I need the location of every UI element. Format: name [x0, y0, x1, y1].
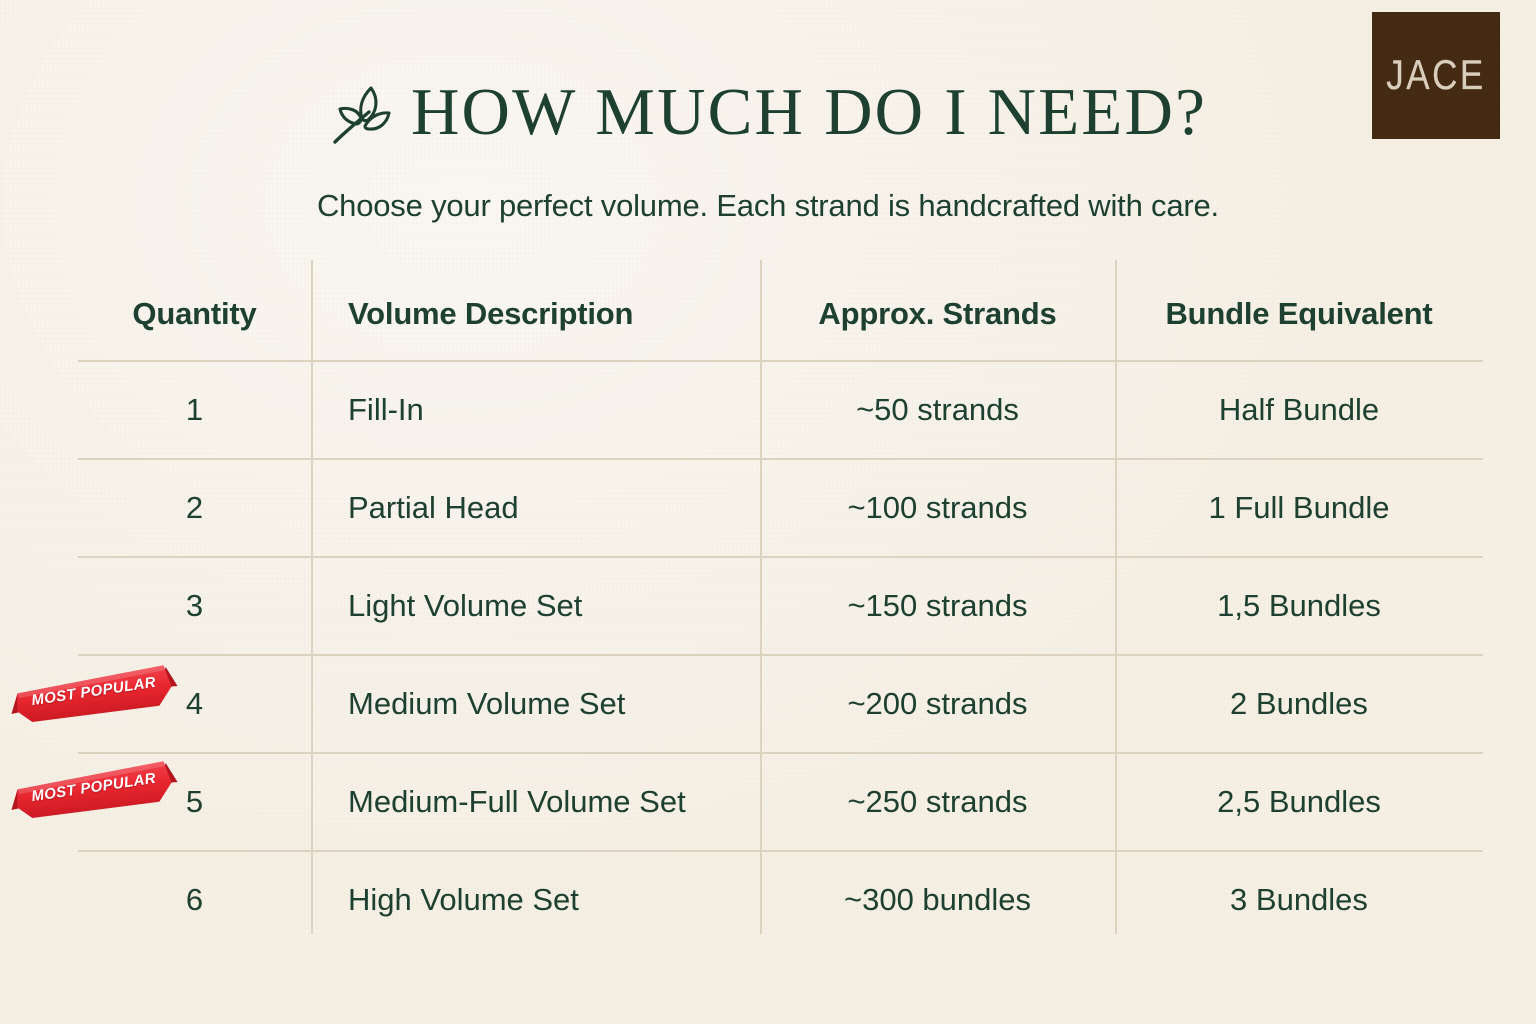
cell-description: High Volume Set: [311, 851, 760, 948]
leaf-sprig-icon: [329, 82, 395, 148]
table-header-row: Quantity Volume Description Approx. Stra…: [78, 268, 1483, 361]
cell-quantity: 6: [78, 851, 311, 948]
table-row[interactable]: 5 Medium-Full Volume Set ~250 strands 2,…: [78, 753, 1483, 851]
cell-strands: ~150 strands: [760, 557, 1115, 655]
table-row[interactable]: 1 Fill-In ~50 strands Half Bundle: [78, 361, 1483, 459]
cell-bundles: Half Bundle: [1115, 361, 1483, 459]
cell-strands: ~200 strands: [760, 655, 1115, 753]
volume-guide-table-wrapper: Quantity Volume Description Approx. Stra…: [78, 268, 1483, 948]
column-divider-3: [1115, 260, 1117, 934]
cell-strands: ~300 bundles: [760, 851, 1115, 948]
header: HOW MUCH DO I NEED?: [0, 76, 1536, 148]
brand-logo[interactable]: JACE: [1372, 12, 1500, 139]
cell-quantity: 3: [78, 557, 311, 655]
cell-description: Medium-Full Volume Set: [311, 753, 760, 851]
cell-description: Fill-In: [311, 361, 760, 459]
column-header-quantity: Quantity: [78, 268, 311, 361]
column-header-volume-description: Volume Description: [311, 268, 760, 361]
cell-bundles: 2,5 Bundles: [1115, 753, 1483, 851]
page-title: HOW MUCH DO I NEED?: [411, 79, 1207, 146]
table-row[interactable]: 2 Partial Head ~100 strands 1 Full Bundl…: [78, 459, 1483, 557]
cell-bundles: 2 Bundles: [1115, 655, 1483, 753]
cell-quantity: 2: [78, 459, 311, 557]
brand-logo-text: JACE: [1386, 55, 1485, 96]
cell-description: Medium Volume Set: [311, 655, 760, 753]
cell-strands: ~50 strands: [760, 361, 1115, 459]
column-header-approx-strands: Approx. Strands: [760, 268, 1115, 361]
cell-bundles: 3 Bundles: [1115, 851, 1483, 948]
cell-strands: ~250 strands: [760, 753, 1115, 851]
page-subtitle: Choose your perfect volume. Each strand …: [0, 188, 1536, 224]
cell-description: Light Volume Set: [311, 557, 760, 655]
cell-description: Partial Head: [311, 459, 760, 557]
column-divider-1: [311, 260, 313, 934]
cell-bundles: 1 Full Bundle: [1115, 459, 1483, 557]
cell-strands: ~100 strands: [760, 459, 1115, 557]
table-row[interactable]: 6 High Volume Set ~300 bundles 3 Bundles: [78, 851, 1483, 948]
column-divider-2: [760, 260, 762, 934]
table-row[interactable]: 3 Light Volume Set ~150 strands 1,5 Bund…: [78, 557, 1483, 655]
cell-bundles: 1,5 Bundles: [1115, 557, 1483, 655]
cell-quantity: 1: [78, 361, 311, 459]
volume-guide-table: Quantity Volume Description Approx. Stra…: [78, 268, 1483, 948]
column-header-bundle-equivalent: Bundle Equivalent: [1115, 268, 1483, 361]
table-row[interactable]: 4 Medium Volume Set ~200 strands 2 Bundl…: [78, 655, 1483, 753]
